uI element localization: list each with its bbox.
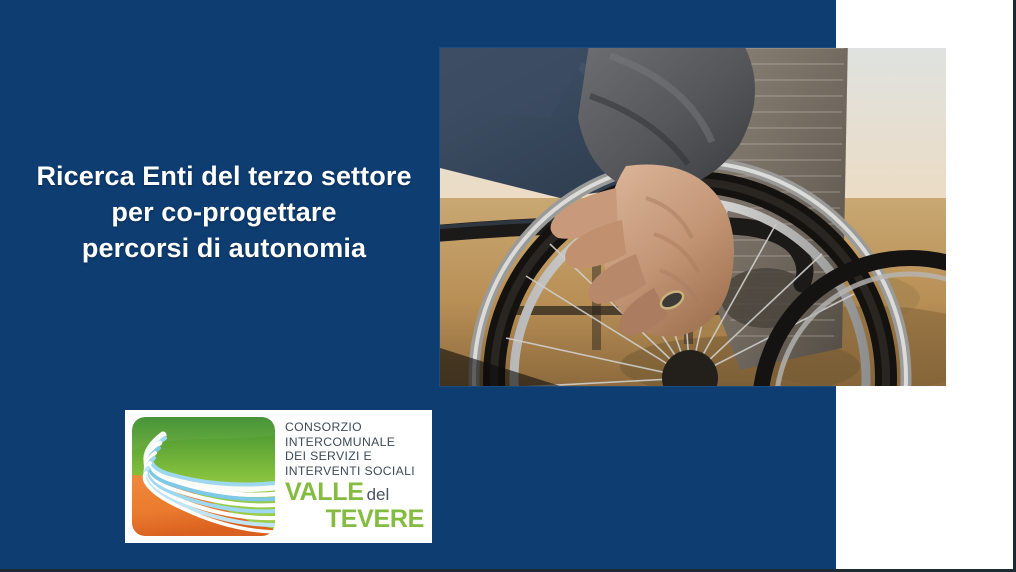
- page-title-line-3: percorsi di autonomia: [8, 230, 440, 266]
- page-title-line-1: Ricerca Enti del terzo settore: [8, 158, 440, 194]
- wheelchair-photo: [440, 48, 946, 386]
- logo-valle-del: VALLEdel: [285, 481, 424, 507]
- logo-tevere-word: TEVERE: [326, 505, 424, 533]
- page-title-line-2: per co-progettare: [8, 194, 440, 230]
- page-title: Ricerca Enti del terzo settore per co-pr…: [8, 158, 440, 266]
- logo-line-3: DEI SERVIZI E: [285, 449, 424, 464]
- logo-del-word: del: [367, 485, 390, 504]
- logo-tevere-line: TEVERE: [285, 507, 424, 535]
- logo-text-block: CONSORZIO INTERCOMUNALE DEI SERVIZI E IN…: [285, 417, 424, 536]
- logo-line-1: CONSORZIO: [285, 420, 424, 435]
- wheelchair-photo-canvas: [440, 48, 946, 386]
- logo-line-2: INTERCOMUNALE: [285, 435, 424, 450]
- logo-valle-word: VALLE: [285, 478, 364, 506]
- consorzio-logo: CONSORZIO INTERCOMUNALE DEI SERVIZI E IN…: [125, 410, 432, 543]
- slide: Ricerca Enti del terzo settore per co-pr…: [0, 0, 1016, 572]
- river-landscape-logo-icon: [132, 417, 275, 536]
- logo-line-4: INTERVENTI SOCIALI: [285, 464, 424, 479]
